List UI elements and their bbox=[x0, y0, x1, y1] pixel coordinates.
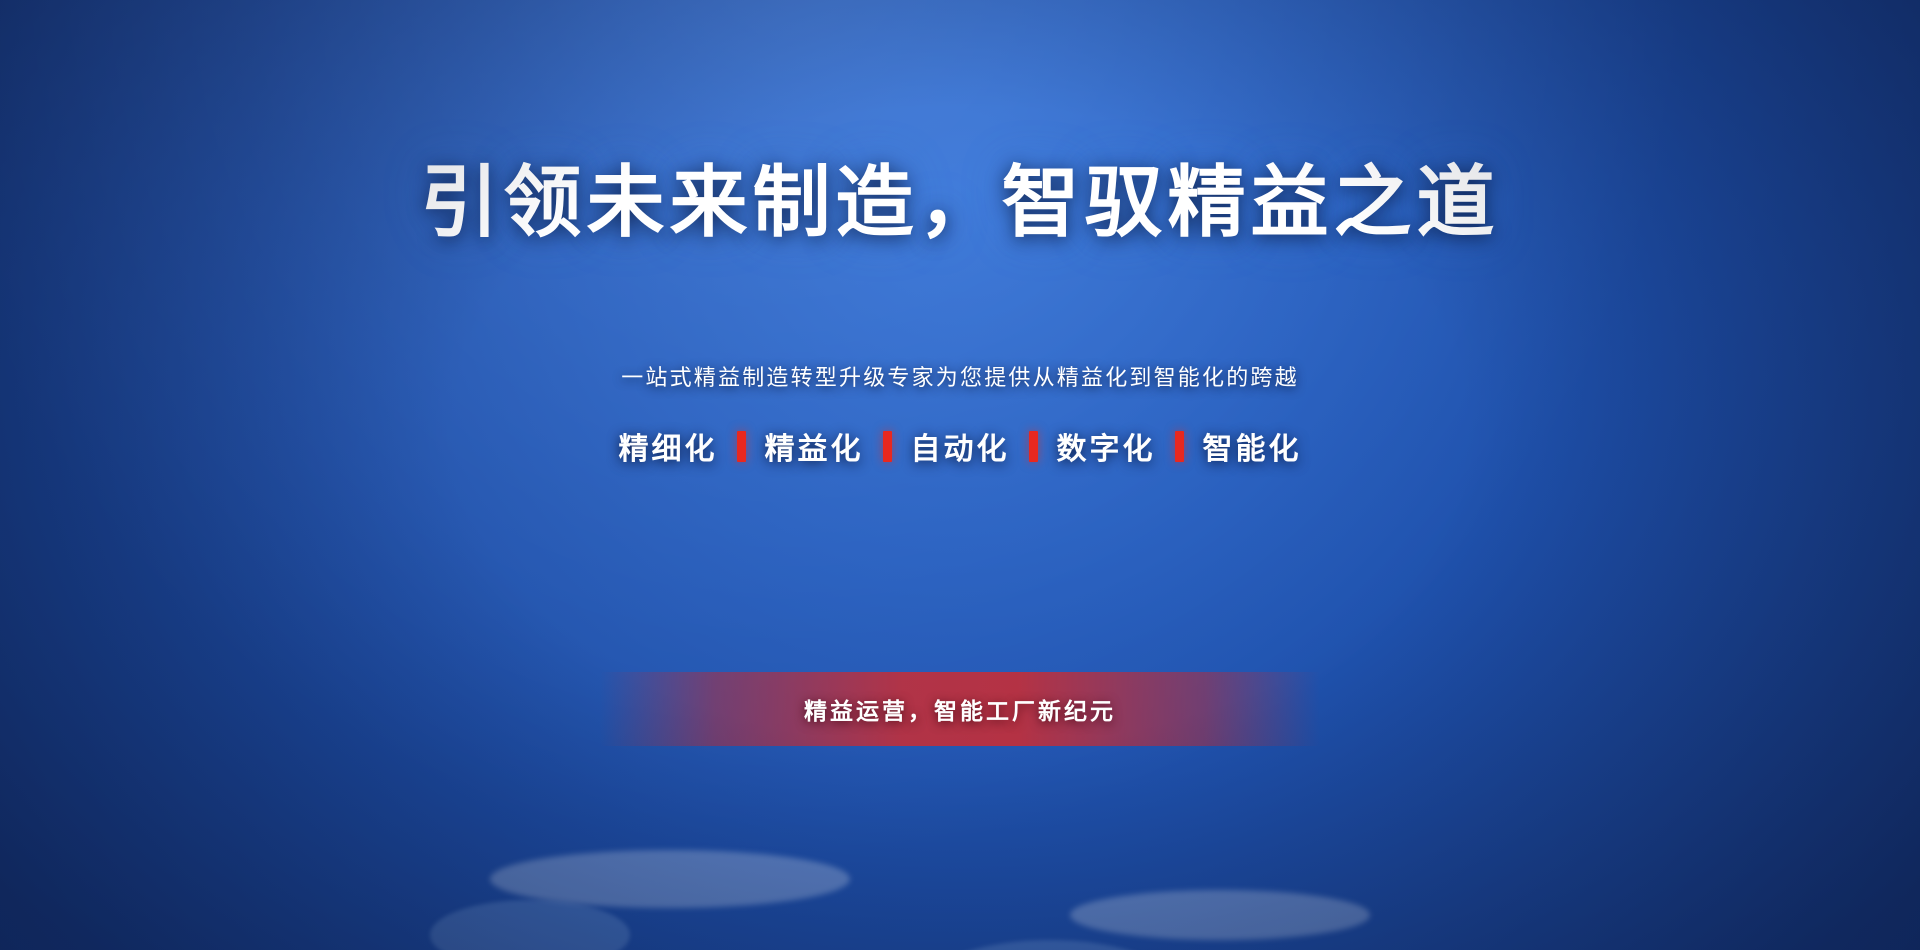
keyword-item: 精益化 bbox=[765, 424, 864, 468]
keyword-separator-icon bbox=[1029, 431, 1038, 462]
tagline-text: 精益运营，智能工厂新纪元 bbox=[804, 692, 1116, 726]
keyword-item: 自动化 bbox=[911, 424, 1010, 468]
keyword-separator-icon bbox=[737, 431, 746, 462]
tagline-banner: 精益运营，智能工厂新纪元 bbox=[600, 672, 1320, 746]
keyword-separator-icon bbox=[883, 431, 892, 462]
keyword-separator-icon bbox=[1175, 431, 1184, 462]
hero-subtitle: 一站式精益制造转型升级专家为您提供从精益化到智能化的跨越 bbox=[0, 360, 1920, 392]
keyword-item: 数字化 bbox=[1057, 424, 1156, 468]
page-title: 引领未来制造，智驭精益之道 bbox=[0, 140, 1920, 252]
hero-banner: 技能道场 SKILL DOJO 质量反省 QUALITY REFLECTION bbox=[0, 0, 1920, 950]
keyword-item: 精细化 bbox=[619, 424, 718, 468]
keyword-list: 精细化 精益化 自动化 数字化 智能化 bbox=[0, 424, 1920, 468]
hero-content: 引领未来制造，智驭精益之道 一站式精益制造转型升级专家为您提供从精益化到智能化的… bbox=[0, 0, 1920, 950]
keyword-item: 智能化 bbox=[1203, 424, 1302, 468]
